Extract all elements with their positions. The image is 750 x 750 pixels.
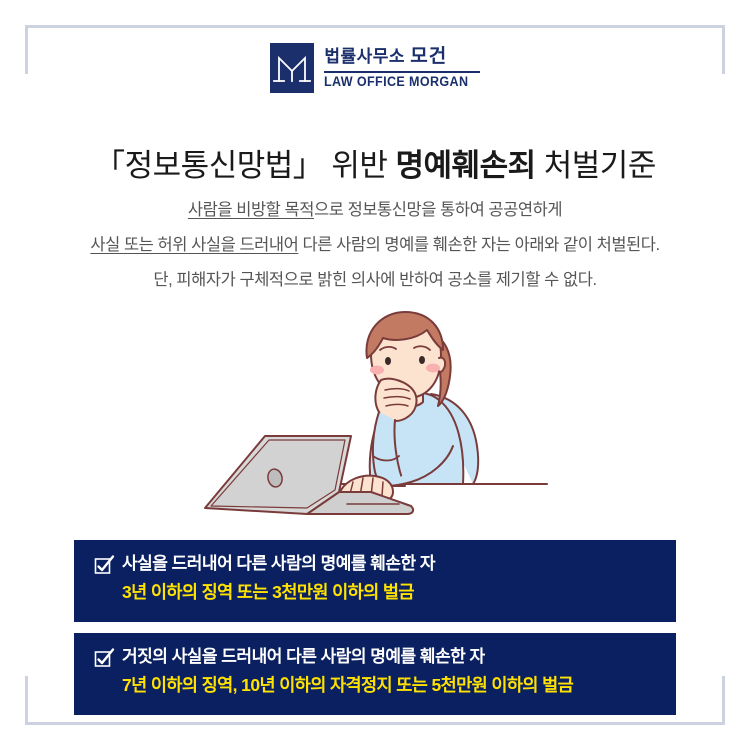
logo-wordmark: 법률사무소 모건 LAW OFFICE MORGAN: [324, 47, 479, 88]
frame-top-rule: [68, 25, 682, 28]
lead-line-2-rest: 다른 사람의 명예를 훼손한 자는 아래와 같이 처벌된다.: [298, 236, 659, 254]
penalty-box-false-statement: 거짓의 사실을 드러내어 다른 사람의 명예를 훼손한 자 7년 이하의 징역,…: [74, 633, 676, 715]
logo-name-kr-light: 법률사무소: [324, 47, 405, 66]
checkbox-checked-icon: [94, 556, 113, 575]
worried-woman-at-laptop-illustration: [0, 306, 750, 534]
penalty-title-row: 사실을 드러내어 다른 사람의 명예를 훼손한 자: [94, 553, 676, 575]
lead-line-2: 사실 또는 허위 사실을 드러내어 다른 사람의 명예를 훼손한 자는 아래와 …: [0, 228, 750, 263]
penalty-title: 사실을 드러내어 다른 사람의 명예를 훼손한 자: [122, 553, 435, 574]
logo-mark-icon: [270, 43, 314, 93]
page-title: 「정보통신망법」 위반 명예훼손죄 처벌기준: [0, 147, 750, 186]
page-title-part1: 「정보통신망법」 위반: [94, 148, 395, 183]
lead-line-3: 단, 피해자가 구체적으로 밝힌 의사에 반하여 공소를 제기할 수 없다.: [0, 263, 750, 298]
logo-name-kr-strong: 모건: [410, 46, 447, 67]
penalty-detail: 3년 이하의 징역 또는 3천만원 이하의 벌금: [122, 582, 676, 604]
penalty-title: 거짓의 사실을 드러내어 다른 사람의 명예를 훼손한 자: [122, 646, 485, 667]
penalty-title-row: 거짓의 사실을 드러내어 다른 사람의 명예를 훼손한 자: [94, 646, 676, 668]
frame-bottom-rule: [68, 722, 682, 725]
penalty-detail: 7년 이하의 징역, 10년 이하의 자격정지 또는 5천만원 이하의 벌금: [122, 675, 676, 697]
lead-line-1: 사람을 비방할 목적으로 정보통신망을 통하여 공공연하게: [0, 193, 750, 228]
logo-divider-rule: [324, 71, 479, 73]
lead-paragraph: 사람을 비방할 목적으로 정보통신망을 통하여 공공연하게 사실 또는 허위 사…: [0, 193, 750, 298]
corner-bracket-bottom-left: [25, 676, 74, 725]
logo-name-english: LAW OFFICE MORGAN: [324, 75, 468, 89]
brand-logo: 법률사무소 모건 LAW OFFICE MORGAN: [0, 43, 750, 93]
lead-line-2-underlined: 사실 또는 허위 사실을 드러내어: [90, 236, 298, 254]
checkbox-checked-icon: [94, 649, 113, 668]
lead-line-1-underlined: 사람을 비방할 목적: [188, 201, 314, 219]
penalty-box-true-statement: 사실을 드러내어 다른 사람의 명예를 훼손한 자 3년 이하의 징역 또는 3…: [74, 540, 676, 622]
infographic-page: 법률사무소 모건 LAW OFFICE MORGAN 「정보통신망법」 위반 명…: [0, 0, 750, 750]
page-title-part2: 처벌기준: [536, 148, 656, 183]
logo-name-korean: 법률사무소 모건: [324, 47, 447, 68]
corner-bracket-bottom-right: [676, 676, 725, 725]
page-title-emphasis: 명예훼손죄: [396, 148, 536, 183]
lead-line-1-rest: 으로 정보통신망을 통하여 공공연하게: [314, 201, 562, 219]
